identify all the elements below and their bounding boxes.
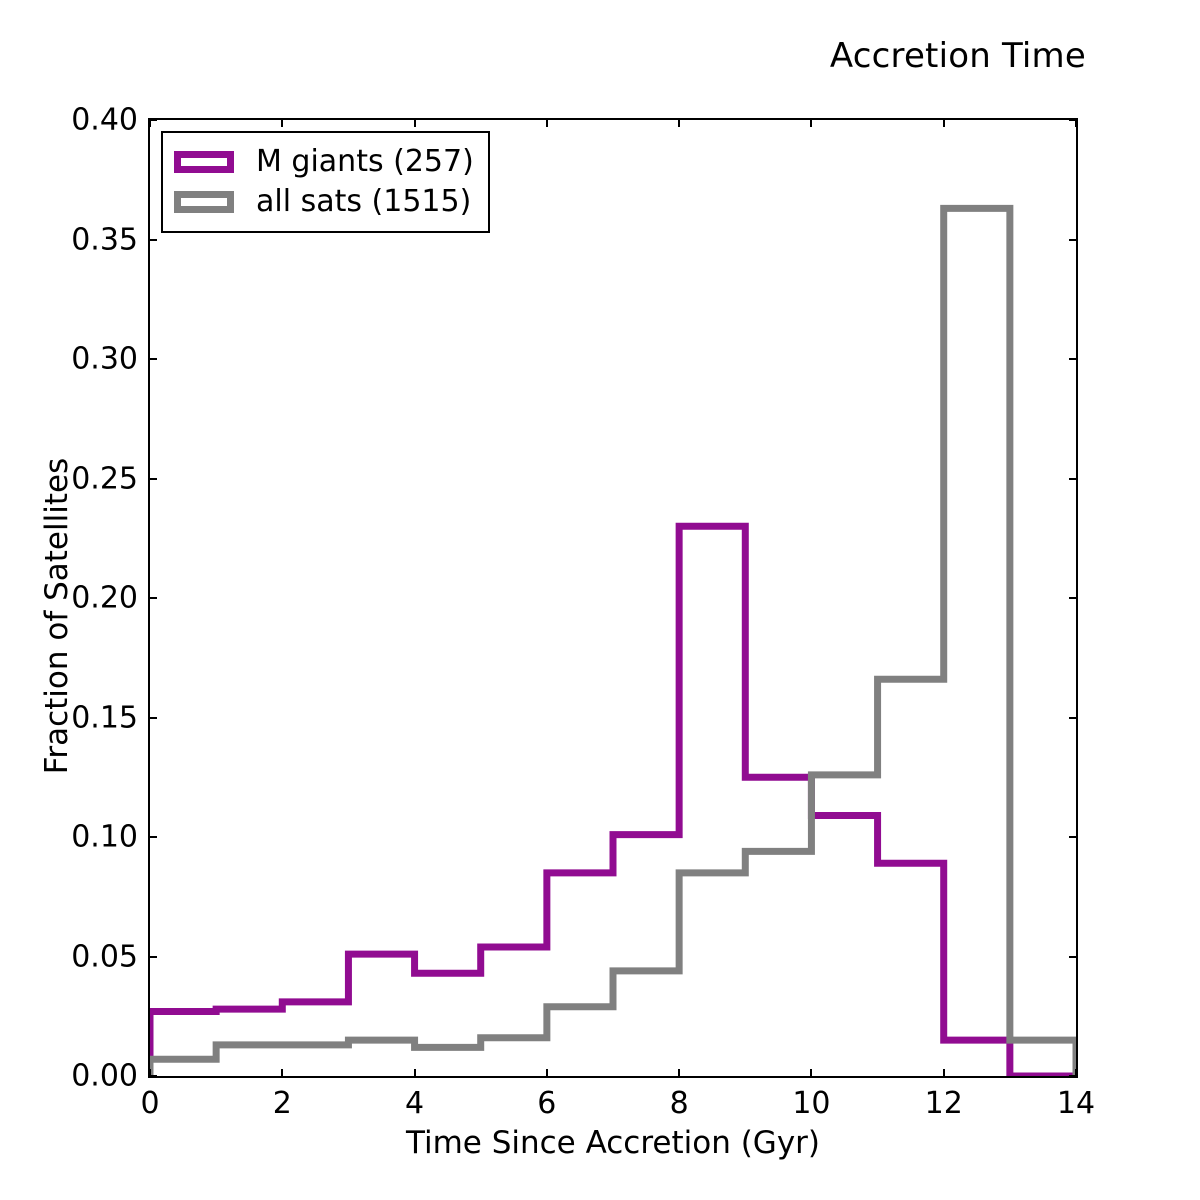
x-tick-mark bbox=[678, 1069, 680, 1078]
x-tick-mark bbox=[1075, 118, 1077, 127]
y-tick-mark bbox=[148, 239, 157, 241]
y-tick-mark bbox=[1069, 597, 1078, 599]
legend-item[interactable]: all sats (1515) bbox=[174, 182, 474, 222]
y-tick-label: 0.20 bbox=[71, 581, 138, 616]
y-tick-mark bbox=[1069, 836, 1078, 838]
y-tick-label: 0.00 bbox=[71, 1059, 138, 1094]
legend-item-label: M giants (257) bbox=[256, 147, 474, 177]
legend-item[interactable]: M giants (257) bbox=[174, 142, 474, 182]
y-tick-mark bbox=[1069, 239, 1078, 241]
plot-area bbox=[150, 120, 1076, 1076]
x-tick-mark bbox=[1075, 1069, 1077, 1078]
figure-canvas: Accretion Time 0.000.050.100.150.200.250… bbox=[0, 0, 1200, 1200]
x-tick-label: 4 bbox=[405, 1086, 424, 1121]
y-tick-label: 0.10 bbox=[71, 820, 138, 855]
x-tick-label: 6 bbox=[537, 1086, 556, 1121]
y-tick-mark bbox=[148, 478, 157, 480]
x-tick-label: 0 bbox=[140, 1086, 159, 1121]
y-tick-mark bbox=[1069, 478, 1078, 480]
y-tick-mark bbox=[148, 358, 157, 360]
y-tick-mark bbox=[148, 836, 157, 838]
y-axis-label: Fraction of Satellites bbox=[39, 316, 75, 916]
x-tick-mark bbox=[810, 118, 812, 127]
x-tick-label: 12 bbox=[925, 1086, 963, 1121]
y-tick-mark bbox=[1069, 956, 1078, 958]
x-tick-mark bbox=[281, 1069, 283, 1078]
x-axis-label: Time Since Accretion (Gyr) bbox=[148, 1125, 1078, 1161]
legend-swatch-icon bbox=[174, 151, 234, 173]
x-tick-mark bbox=[546, 118, 548, 127]
histogram-svg bbox=[150, 120, 1076, 1076]
x-tick-mark bbox=[414, 118, 416, 127]
y-tick-mark bbox=[148, 717, 157, 719]
y-tick-label: 0.05 bbox=[71, 939, 138, 974]
y-tick-mark bbox=[148, 956, 157, 958]
x-tick-mark bbox=[149, 1069, 151, 1078]
x-tick-label: 10 bbox=[792, 1086, 830, 1121]
y-tick-label: 0.35 bbox=[71, 222, 138, 257]
y-tick-label: 0.25 bbox=[71, 461, 138, 496]
legend-swatch-icon bbox=[174, 191, 234, 213]
y-tick-mark bbox=[1069, 717, 1078, 719]
x-tick-mark bbox=[546, 1069, 548, 1078]
x-tick-mark bbox=[943, 118, 945, 127]
series-step-all-sats bbox=[150, 208, 1076, 1076]
chart-title: Accretion Time bbox=[0, 36, 1086, 76]
x-tick-mark bbox=[943, 1069, 945, 1078]
legend: M giants (257)all sats (1515) bbox=[161, 131, 490, 233]
y-tick-mark bbox=[148, 597, 157, 599]
y-tick-mark bbox=[1069, 358, 1078, 360]
plot-frame bbox=[148, 118, 1078, 1078]
x-tick-label: 14 bbox=[1057, 1086, 1095, 1121]
x-tick-mark bbox=[149, 118, 151, 127]
y-tick-label: 0.40 bbox=[71, 103, 138, 138]
x-tick-label: 8 bbox=[670, 1086, 689, 1121]
x-tick-mark bbox=[678, 118, 680, 127]
y-tick-label: 0.15 bbox=[71, 700, 138, 735]
x-tick-mark bbox=[810, 1069, 812, 1078]
x-tick-mark bbox=[281, 118, 283, 127]
x-tick-mark bbox=[414, 1069, 416, 1078]
legend-item-label: all sats (1515) bbox=[256, 187, 471, 217]
y-tick-label: 0.30 bbox=[71, 342, 138, 377]
x-tick-label: 2 bbox=[273, 1086, 292, 1121]
